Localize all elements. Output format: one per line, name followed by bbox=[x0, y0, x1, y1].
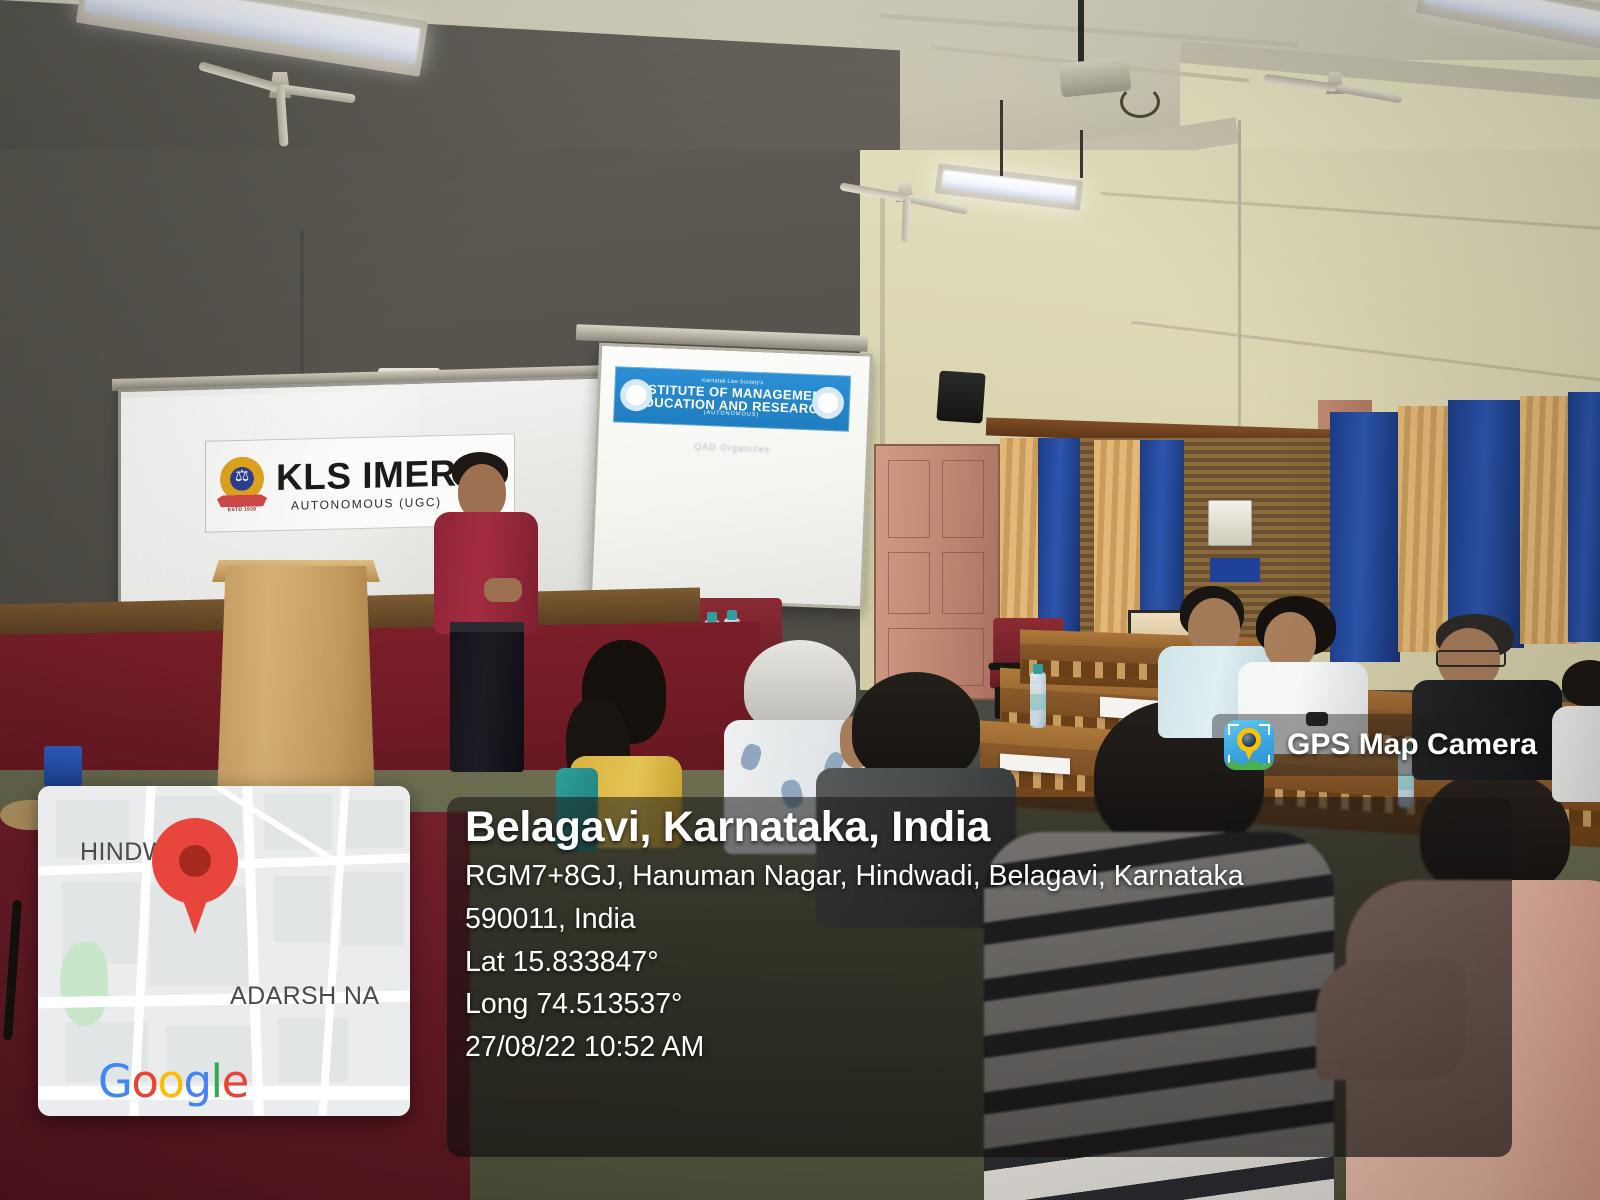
google-logo-letter: o bbox=[131, 1055, 157, 1108]
map-block bbox=[278, 1018, 348, 1082]
gps-address-line1: RGM7+8GJ, Hanuman Nagar, Hindwadi, Belag… bbox=[465, 855, 1495, 898]
map-block bbox=[274, 876, 330, 942]
wall-notice-sign bbox=[1210, 558, 1260, 582]
gps-map-camera-label: GPS Map Camera bbox=[1287, 728, 1537, 762]
map-park-area bbox=[60, 942, 108, 1026]
curtain-blue-4 bbox=[1448, 400, 1524, 648]
attendee-edge bbox=[1552, 660, 1600, 800]
wall-speaker-right bbox=[936, 370, 985, 423]
map-block bbox=[344, 800, 404, 848]
map-label-adarsh-nagar: ADARSH NA bbox=[230, 982, 379, 1011]
ceiling-projector bbox=[1058, 56, 1131, 97]
gps-map-camera-watermark: GPS Map Camera bbox=[1212, 714, 1512, 776]
kls-sign-title: KLS IMER bbox=[276, 454, 457, 495]
hall-door bbox=[874, 444, 1000, 700]
slide-body-text: QAD Organizes bbox=[598, 438, 866, 459]
gps-location-title: Belagavi, Karnataka, India bbox=[465, 800, 1495, 855]
gps-datetime: 27/08/22 10:52 AM bbox=[465, 1026, 1495, 1069]
kls-sign-subtitle: AUTONOMOUS (UGC) bbox=[276, 495, 457, 511]
ceiling-fan-1 bbox=[190, 62, 370, 132]
kls-crest-logo: ⚖ ESTD 1939 bbox=[216, 454, 268, 517]
google-logo-letter: l bbox=[211, 1055, 222, 1108]
crest-estd-label: ESTD 1939 bbox=[216, 506, 268, 513]
curtain-blue-5 bbox=[1568, 392, 1600, 642]
ceiling-fan-3 bbox=[1262, 62, 1412, 122]
ceiling-fan-2 bbox=[832, 172, 982, 232]
gps-text-block: Belagavi, Karnataka, India RGM7+8GJ, Han… bbox=[465, 800, 1495, 1069]
slide-header-banner: Karnatak Law Society's INSTITUTE OF MANA… bbox=[613, 366, 851, 431]
gps-map-camera-icon bbox=[1224, 720, 1274, 770]
gps-address-line2: 590011, India bbox=[465, 898, 1495, 941]
projection-screen: Karnatak Law Society's INSTITUTE OF MANA… bbox=[589, 343, 873, 610]
photo-screenshot: ⚖ ESTD 1939 KLS IMER AUTONOMOUS (UGC) Ka… bbox=[0, 0, 1600, 1200]
google-logo: Google bbox=[98, 1055, 248, 1108]
presenter bbox=[432, 452, 544, 772]
light-rod-1 bbox=[1000, 100, 1003, 176]
gps-latitude: Lat 15.833847° bbox=[465, 941, 1495, 984]
gps-longitude: Long 74.513537° bbox=[465, 983, 1495, 1026]
map-block bbox=[342, 872, 404, 946]
google-logo-letter: e bbox=[222, 1055, 248, 1108]
electrical-panel bbox=[1208, 500, 1252, 546]
blue-bucket bbox=[44, 746, 82, 788]
map-location-pin-icon bbox=[152, 818, 238, 936]
projector-cable bbox=[1120, 86, 1160, 118]
google-logo-letter: G bbox=[98, 1055, 131, 1108]
light-rod-2 bbox=[1080, 130, 1083, 178]
google-logo-letter: o bbox=[157, 1055, 183, 1108]
google-logo-letter: g bbox=[183, 1055, 210, 1108]
slide-logo-right bbox=[811, 386, 844, 419]
projector-mount-arm bbox=[1078, 0, 1084, 62]
